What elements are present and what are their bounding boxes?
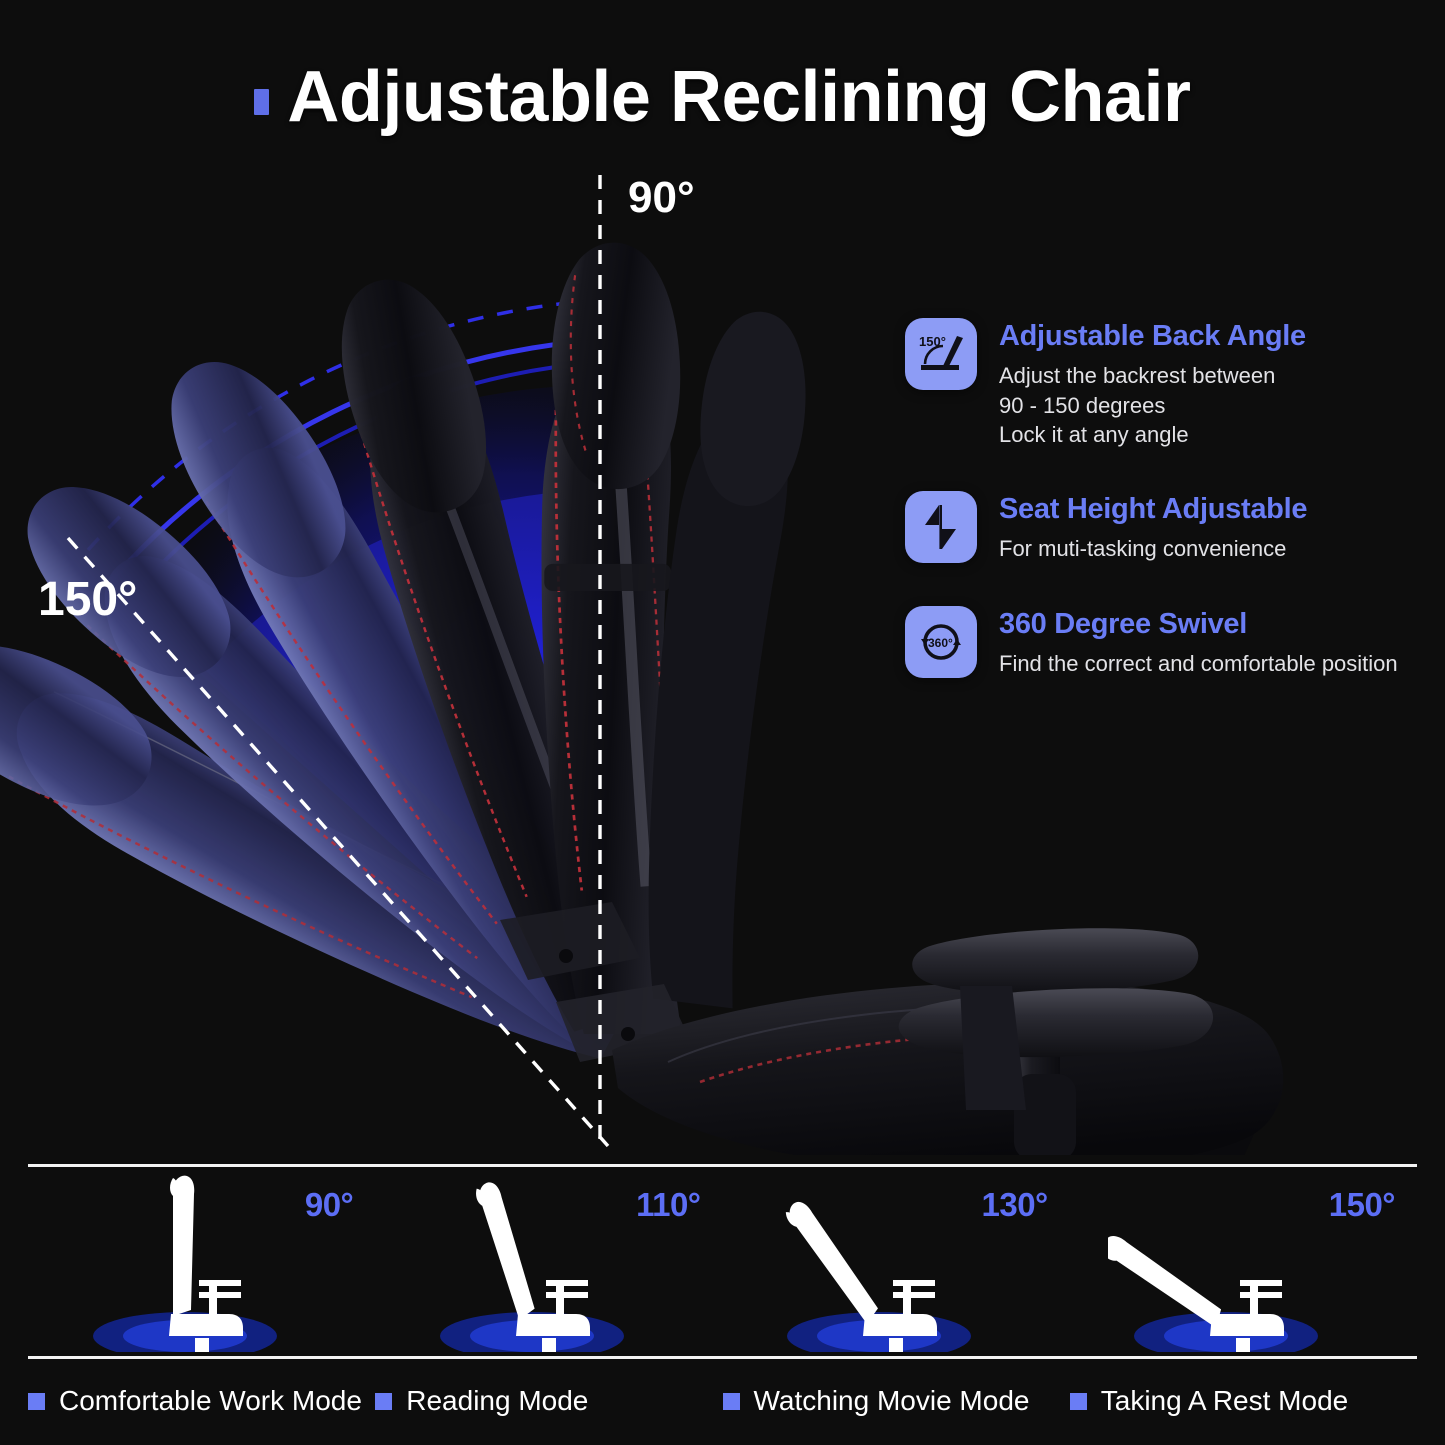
mode-cell-150: 150° <box>1070 1170 1417 1352</box>
legend-item-movie: Watching Movie Mode <box>723 1372 1070 1430</box>
page-title: Adjustable Reclining Chair <box>0 52 1445 142</box>
mode-legend: Comfortable Work Mode Reading Mode Watch… <box>28 1372 1417 1430</box>
mode-cell-110: 110° <box>375 1170 722 1352</box>
feature-1-desc-line-3: Lock it at any angle <box>999 420 1306 449</box>
mode-cell-130: 130° <box>723 1170 1070 1352</box>
feature-3-title: 360 Degree Swivel <box>999 608 1398 641</box>
mode-angle-90: 90° <box>305 1186 353 1224</box>
feature-2-title: Seat Height Adjustable <box>999 493 1307 526</box>
feature-2-body: Seat Height Adjustable For muti-tasking … <box>999 491 1307 564</box>
feature-seat-height-adjustable: Seat Height Adjustable For muti-tasking … <box>905 491 1445 564</box>
svg-text:360°: 360° <box>928 636 953 650</box>
chair-silhouette-90 <box>67 1170 337 1352</box>
mode-angle-150: 150° <box>1329 1186 1395 1224</box>
legend-item-work: Comfortable Work Mode <box>28 1372 375 1430</box>
mode-angle-110: 110° <box>636 1186 700 1224</box>
title-text: Adjustable Reclining Chair <box>287 61 1190 133</box>
feature-adjustable-back-angle: 150° Adjustable Back Angle Adjust the ba… <box>905 318 1445 449</box>
angle-label-150: 150° <box>38 573 137 626</box>
height-adjust-glyph <box>913 499 969 555</box>
divider-top <box>28 1164 1417 1167</box>
legend-item-reading: Reading Mode <box>375 1372 722 1430</box>
recline-angle-glyph: 150° <box>913 326 969 382</box>
swivel-360-icon: 360° <box>905 606 977 678</box>
legend-bullet-icon <box>28 1393 45 1410</box>
recline-angle-icon: 150° <box>905 318 977 390</box>
feature-1-desc: Adjust the backrest between 90 - 150 deg… <box>999 361 1306 449</box>
mode-cell-90: 90° <box>28 1170 375 1352</box>
swivel-360-glyph: 360° <box>913 614 969 670</box>
legend-label-work: Comfortable Work Mode <box>59 1385 362 1417</box>
height-adjust-icon <box>905 491 977 563</box>
infographic-page: Adjustable Reclining Chair <box>0 0 1445 1445</box>
feature-2-desc-line-1: For muti-tasking convenience <box>999 534 1307 563</box>
title-bullet-icon <box>254 89 269 115</box>
feature-3-body: 360 Degree Swivel Find the correct and c… <box>999 606 1398 679</box>
divider-bottom <box>28 1356 1417 1359</box>
feature-1-title: Adjustable Back Angle <box>999 320 1306 353</box>
angle-label-90: 90° <box>628 173 695 222</box>
legend-label-rest: Taking A Rest Mode <box>1101 1385 1348 1417</box>
legend-bullet-icon <box>1070 1393 1087 1410</box>
legend-label-reading: Reading Mode <box>406 1385 588 1417</box>
legend-label-movie: Watching Movie Mode <box>754 1385 1030 1417</box>
legend-bullet-icon <box>723 1393 740 1410</box>
legend-item-rest: Taking A Rest Mode <box>1070 1372 1417 1430</box>
headrest-upright-90 <box>552 243 680 489</box>
feature-3-desc-line-1: Find the correct and comfortable positio… <box>999 649 1398 678</box>
feature-1-desc-line-2: 90 - 150 degrees <box>999 391 1306 420</box>
mode-angle-130: 130° <box>981 1186 1047 1224</box>
legend-bullet-icon <box>375 1393 392 1410</box>
feature-list: 150° Adjustable Back Angle Adjust the ba… <box>905 318 1445 720</box>
feature-1-desc-line-1: Adjust the backrest between <box>999 361 1306 390</box>
mode-gallery: 90° <box>28 1170 1417 1352</box>
feature-2-desc: For muti-tasking convenience <box>999 534 1307 563</box>
feature-3-desc: Find the correct and comfortable positio… <box>999 649 1398 678</box>
feature-1-body: Adjustable Back Angle Adjust the backres… <box>999 318 1306 449</box>
feature-360-degree-swivel: 360° 360 Degree Swivel Find the correct … <box>905 606 1445 679</box>
